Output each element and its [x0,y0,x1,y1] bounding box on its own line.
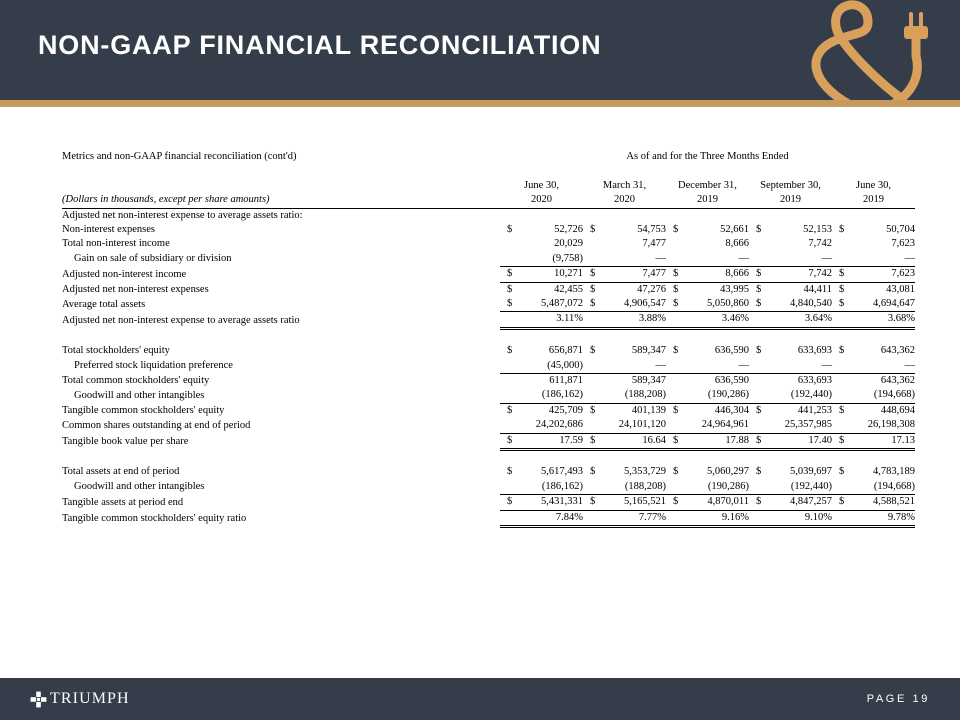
cell-value: 446,304 [685,403,749,418]
column-header-month-4: June 30, [832,179,915,193]
empty-cell [500,450,507,466]
cell-value: 7.84% [519,510,583,526]
table-row: Tangible common stockholders' equity$425… [62,403,915,418]
table-row: Adjusted non-interest income$10,271$7,47… [62,267,915,282]
cell-currency: $ [839,433,851,449]
empty-cell [673,450,685,466]
empty-cell [685,450,749,466]
cell-value: 9.16% [685,510,749,526]
cell-gap [583,403,590,418]
cell-value: 4,588,521 [851,495,915,510]
cell-currency: $ [756,465,768,479]
cell-value: 8,666 [685,237,749,251]
cell-value: 9.78% [851,510,915,526]
cell-currency: $ [507,223,519,237]
cell-value: 633,693 [768,374,832,389]
cell-currency: $ [756,297,768,312]
row-label: Tangible common stockholders' equity rat… [62,510,500,526]
cell-currency: $ [507,282,519,297]
cell-value: 7,477 [602,267,666,282]
cell-gap [583,480,590,495]
empty-cell [749,328,756,344]
empty-cell [500,328,507,344]
cell-gap [749,359,756,374]
cell-value: 643,362 [851,374,915,389]
cell-gap [583,282,590,297]
cell-value: 17.88 [685,433,749,449]
cell-gap [666,495,673,510]
cell-value: 26,198,308 [851,418,915,433]
cell-gap [666,418,673,433]
cell-currency: $ [673,344,685,358]
cell-gap [500,495,507,510]
cell-currency [673,374,685,389]
cell-gap [500,374,507,389]
cell-gap [583,267,590,282]
table-row: Tangible assets at period end$5,431,331$… [62,495,915,510]
cell-value: 4,694,647 [851,297,915,312]
empty-cell [839,164,851,178]
cell-value: — [602,359,666,374]
cell-currency [507,208,519,223]
cell-gap [500,344,507,358]
cell-gap [583,223,590,237]
cell-value: — [685,252,749,267]
cell-value: 425,709 [519,403,583,418]
cell-currency [507,510,519,526]
row-label: Total common stockholders' equity [62,374,500,389]
cell-value: 3.46% [685,312,749,328]
empty-cell [583,328,590,344]
cell-gap [749,374,756,389]
table-row: Total stockholders' equity$656,871$589,3… [62,344,915,358]
cell-currency [673,480,685,495]
brand-logo: TRIUMPH [30,689,130,709]
row-label: Total assets at end of period [62,465,500,479]
empty-cell [756,328,768,344]
cell-currency [756,208,768,223]
table-row: Total common stockholders' equity611,871… [62,374,915,389]
cell-currency [839,208,851,223]
cell-value: 589,347 [602,344,666,358]
cell-value: 52,661 [685,223,749,237]
cell-gap [832,465,839,479]
cell-currency [756,312,768,328]
cell-gap [500,267,507,282]
cell-gap [666,433,673,449]
cell-value: — [851,359,915,374]
cell-currency: $ [756,495,768,510]
cell-value: 5,353,729 [602,465,666,479]
empty-cell [666,450,673,466]
empty-cell [832,164,839,178]
cell-value: 643,362 [851,344,915,358]
cell-value [602,208,666,223]
cell-value: 7,623 [851,237,915,251]
cell-currency: $ [756,223,768,237]
cell-gap [500,480,507,495]
cell-gap [832,223,839,237]
cell-value: (45,000) [519,359,583,374]
cell-value: 43,081 [851,282,915,297]
cell-value: (192,440) [768,480,832,495]
cell-gap [832,388,839,403]
cell-value: (194,668) [851,480,915,495]
cell-currency: $ [839,267,851,282]
empty-cell [851,164,915,178]
cell-gap [749,465,756,479]
column-header-year-4: 2019 [832,193,915,208]
cell-gap [832,237,839,251]
cell-value: 4,840,540 [768,297,832,312]
cell-gap [832,252,839,267]
column-header-month-0: June 30, [500,179,583,193]
cell-currency [507,312,519,328]
table-row: Gain on sale of subsidiary or division(9… [62,252,915,267]
column-header-year-1: 2020 [583,193,666,208]
spacer-row [62,164,915,178]
cell-value: 441,253 [768,403,832,418]
empty-cell [839,328,851,344]
cell-value: 52,153 [768,223,832,237]
cell-currency: $ [839,344,851,358]
table-caption: Metrics and non-GAAP financial reconcili… [62,150,500,164]
cell-value [851,208,915,223]
cell-currency [673,359,685,374]
table-row: Tangible common stockholders' equity rat… [62,510,915,526]
cell-gap [583,237,590,251]
cell-gap [749,418,756,433]
cell-currency [839,418,851,433]
empty-cell [62,450,500,466]
empty-cell [685,164,749,178]
cell-value: 10,271 [519,267,583,282]
cell-currency [590,359,602,374]
table-row: Common shares outstanding at end of peri… [62,418,915,433]
empty-cell [768,328,832,344]
cell-gap [583,252,590,267]
cell-currency [590,208,602,223]
column-header-year-0: 2020 [500,193,583,208]
ampersand-plug-icon [790,0,960,100]
cell-gap [666,388,673,403]
cell-value: 448,694 [851,403,915,418]
cell-currency [590,374,602,389]
empty-cell [839,450,851,466]
cell-gap [666,312,673,328]
cell-gap [583,388,590,403]
cell-gap [832,359,839,374]
table-row: Preferred stock liquidation preference(4… [62,359,915,374]
cell-currency: $ [839,282,851,297]
cell-value: (192,440) [768,388,832,403]
cell-value: 7,623 [851,267,915,282]
cell-currency [839,480,851,495]
cell-currency: $ [673,297,685,312]
financial-table-area: Metrics and non-GAAP financial reconcili… [62,150,902,528]
units-note: (Dollars in thousands, except per share … [62,193,500,208]
cell-gap [666,403,673,418]
cell-value: — [685,359,749,374]
cell-value: 7,477 [602,237,666,251]
cell-gap [832,312,839,328]
cell-value: — [602,252,666,267]
cell-gap [666,359,673,374]
cell-gap [666,208,673,223]
cell-currency [839,252,851,267]
row-label: Tangible assets at period end [62,495,500,510]
cell-value: (194,668) [851,388,915,403]
cell-value: 3.64% [768,312,832,328]
empty-cell [507,164,519,178]
row-label: Goodwill and other intangibles [62,480,500,495]
cell-value: 9.10% [768,510,832,526]
cell-currency [839,374,851,389]
cell-gap [666,237,673,251]
cell-currency [507,252,519,267]
cell-value: 7.77% [602,510,666,526]
cell-currency: $ [756,282,768,297]
cell-gap [749,495,756,510]
cell-currency [756,510,768,526]
cell-gap [500,282,507,297]
table-row: Adjusted net non-interest expense to ave… [62,208,915,223]
cell-gap [666,374,673,389]
triumph-cross-logo-icon [30,691,47,708]
cell-gap [666,267,673,282]
cell-currency: $ [507,344,519,358]
empty-cell [590,328,602,344]
cell-gap [749,267,756,282]
cell-currency [839,388,851,403]
column-header-year-3: 2019 [749,193,832,208]
cell-value: 8,666 [685,267,749,282]
cell-value: 3.68% [851,312,915,328]
cell-currency: $ [839,495,851,510]
cell-value: 42,455 [519,282,583,297]
cell-value: (9,758) [519,252,583,267]
empty-cell [832,328,839,344]
row-label: Adjusted non-interest income [62,267,500,282]
cell-gap [832,510,839,526]
cell-currency [839,237,851,251]
cell-value: 20,029 [519,237,583,251]
cell-gap [832,480,839,495]
empty-cell [507,450,519,466]
table-row: Total assets at end of period$5,617,493$… [62,465,915,479]
cell-gap [749,252,756,267]
empty-cell [749,450,756,466]
empty-cell [62,164,500,178]
table-row: Tangible book value per share$17.59$16.6… [62,433,915,449]
empty-cell [685,328,749,344]
cell-value: (190,286) [685,388,749,403]
cell-gap [583,510,590,526]
cell-value: 16.64 [602,433,666,449]
cell-currency [507,418,519,433]
cell-currency: $ [507,465,519,479]
cell-gap [583,297,590,312]
row-label: Adjusted net non-interest expense to ave… [62,208,500,223]
cell-gap [666,297,673,312]
table-row: Total non-interest income20,0297,4778,66… [62,237,915,251]
cell-currency: $ [673,267,685,282]
cell-value: 50,704 [851,223,915,237]
cell-currency [673,252,685,267]
cell-currency [673,510,685,526]
cell-value: 4,847,257 [768,495,832,510]
row-label: Tangible common stockholders' equity [62,403,500,418]
empty-cell [590,164,602,178]
cell-currency [507,374,519,389]
cell-value: 636,590 [685,374,749,389]
empty-cell [519,328,583,344]
empty-cell [851,328,915,344]
cell-currency: $ [507,433,519,449]
slide-header: NON-GAAP FINANCIAL RECONCILIATION [0,0,960,100]
cell-currency [756,359,768,374]
cell-value: 17.59 [519,433,583,449]
cell-gap [583,374,590,389]
cell-value: 24,101,120 [602,418,666,433]
cell-gap [500,510,507,526]
cell-currency: $ [590,282,602,297]
cell-value: 4,783,189 [851,465,915,479]
table-caption-row: Metrics and non-GAAP financial reconcili… [62,150,915,164]
cell-gap [832,297,839,312]
cell-currency: $ [590,297,602,312]
brand-wordmark: TRIUMPH [50,690,130,708]
table-row: Adjusted net non-interest expenses$42,45… [62,282,915,297]
table-row: Non-interest expenses$52,726$54,753$52,6… [62,223,915,237]
cell-gap [666,223,673,237]
cell-gap [500,312,507,328]
cell-currency [673,208,685,223]
cell-currency [673,418,685,433]
cell-currency: $ [839,403,851,418]
spacer-cell [62,179,500,193]
cell-gap [583,359,590,374]
cell-gap [832,344,839,358]
cell-currency [507,237,519,251]
column-header-year-2: 2019 [666,193,749,208]
empty-cell [768,450,832,466]
cell-currency: $ [590,403,602,418]
empty-cell [673,328,685,344]
cell-gap [500,252,507,267]
cell-gap [583,208,590,223]
cell-currency [590,312,602,328]
column-header-month-row: June 30,March 31,December 31,September 3… [62,179,915,193]
header-accent-rule [0,100,960,107]
cell-currency: $ [839,297,851,312]
cell-currency [590,510,602,526]
cell-value: 52,726 [519,223,583,237]
cell-gap [500,297,507,312]
cell-currency: $ [673,403,685,418]
cell-currency [507,388,519,403]
cell-value: 656,871 [519,344,583,358]
cell-value: 5,487,072 [519,297,583,312]
cell-gap [583,433,590,449]
cell-gap [832,433,839,449]
cell-currency: $ [507,495,519,510]
cell-currency [839,510,851,526]
cell-value: 54,753 [602,223,666,237]
cell-gap [666,465,673,479]
cell-value: 589,347 [602,374,666,389]
cell-currency: $ [673,465,685,479]
column-header-month-3: September 30, [749,179,832,193]
cell-currency: $ [507,267,519,282]
cell-value [685,208,749,223]
cell-currency: $ [673,223,685,237]
column-header-month-2: December 31, [666,179,749,193]
cell-value: 7,742 [768,267,832,282]
cell-currency: $ [673,282,685,297]
table-row: Average total assets$5,487,072$4,906,547… [62,297,915,312]
cell-value: — [768,252,832,267]
cell-value: 5,039,697 [768,465,832,479]
cell-currency: $ [590,465,602,479]
cell-value: 401,139 [602,403,666,418]
cell-value: 47,276 [602,282,666,297]
cell-currency: $ [590,433,602,449]
cell-currency: $ [839,465,851,479]
cell-value: 43,995 [685,282,749,297]
cell-gap [832,418,839,433]
cell-value: 633,693 [768,344,832,358]
cell-currency: $ [507,297,519,312]
empty-cell [602,450,666,466]
cell-value: 5,050,860 [685,297,749,312]
cell-currency [590,237,602,251]
cell-value: 24,202,686 [519,418,583,433]
row-label: Preferred stock liquidation preference [62,359,500,374]
empty-cell [62,328,500,344]
empty-cell [519,450,583,466]
cell-currency: $ [756,267,768,282]
cell-gap [832,267,839,282]
cell-gap [749,403,756,418]
empty-cell [768,164,832,178]
row-label: Total stockholders' equity [62,344,500,358]
cell-value: 3.11% [519,312,583,328]
cell-currency [590,252,602,267]
cell-gap [832,374,839,389]
cell-currency [673,388,685,403]
cell-value: (186,162) [519,388,583,403]
cell-gap [749,282,756,297]
cell-currency: $ [590,267,602,282]
cell-currency [673,237,685,251]
cell-currency [507,480,519,495]
cell-gap [583,465,590,479]
cell-value: 5,431,331 [519,495,583,510]
empty-cell [756,164,768,178]
cell-value: 25,357,985 [768,418,832,433]
cell-gap [749,480,756,495]
cell-currency [756,418,768,433]
cell-gap [500,208,507,223]
empty-cell [507,328,519,344]
cell-value: 17.40 [768,433,832,449]
cell-value: 17.13 [851,433,915,449]
cell-gap [749,312,756,328]
cell-gap [500,223,507,237]
empty-cell [590,450,602,466]
cell-value: 5,165,521 [602,495,666,510]
